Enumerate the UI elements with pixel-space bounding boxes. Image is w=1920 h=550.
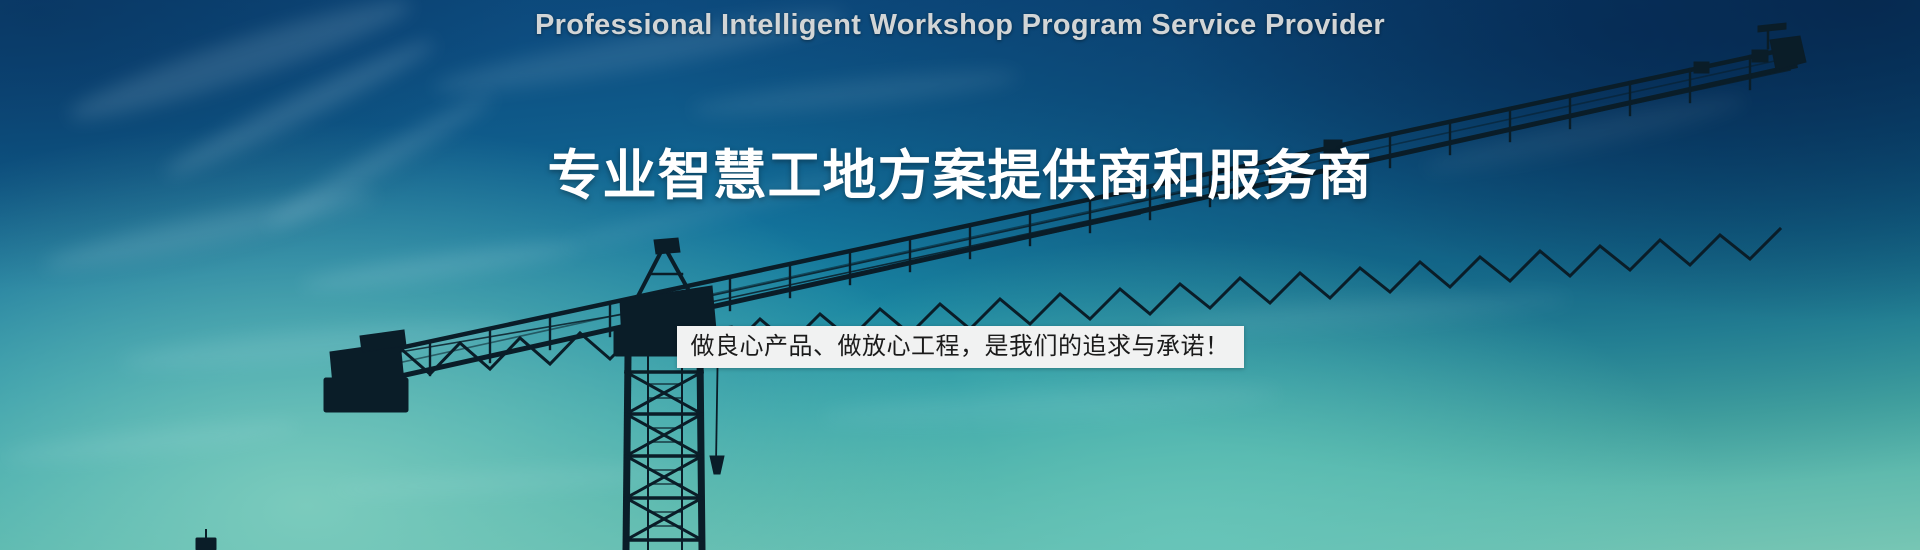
banner-subtitle: 做良心产品、做放心工程，是我们的追求与承诺！	[677, 326, 1244, 368]
hero-banner: Professional Intelligent Workshop Progra…	[0, 0, 1920, 550]
banner-chinese-title: 专业智慧工地方案提供商和服务商	[0, 131, 1920, 210]
banner-english-title: Professional Intelligent Workshop Progra…	[0, 9, 1920, 42]
tower-crane-icon	[0, 0, 1920, 550]
banner-subtitle-wrapper: 做良心产品、做放心工程，是我们的追求与承诺！	[0, 326, 1920, 368]
